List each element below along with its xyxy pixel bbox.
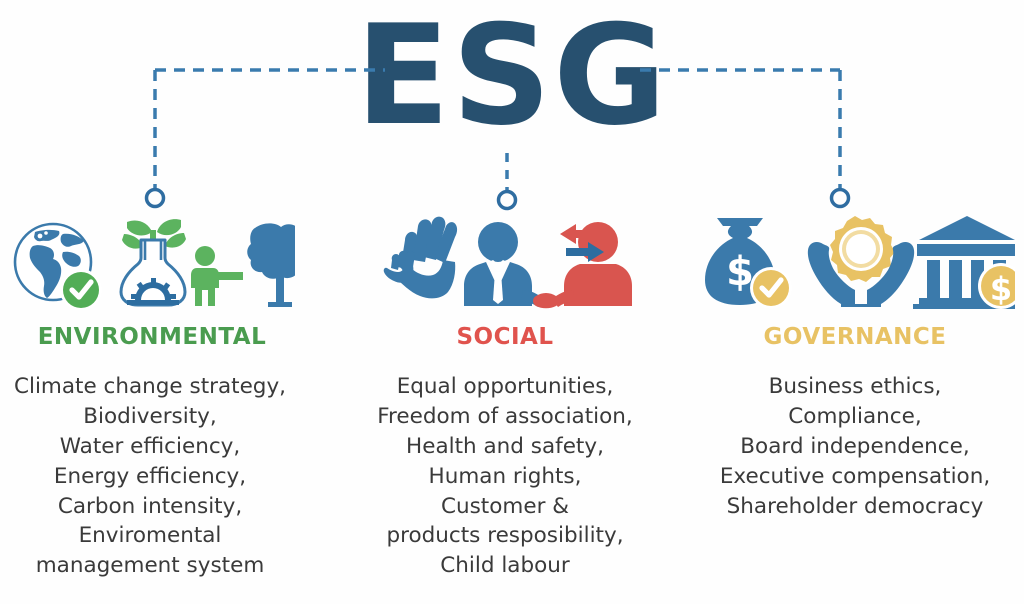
pillar-label-environmental: ENVIRONMENTAL <box>4 324 300 350</box>
handshake-people-icon <box>464 222 632 308</box>
topic-item: Energy efficiency, <box>0 462 300 492</box>
topic-item: Board independence, <box>690 432 1020 462</box>
topic-list-governance: Business ethics, Compliance, Board indep… <box>690 372 1020 521</box>
governance-icon-row: $ <box>690 210 1020 310</box>
pillar-environmental: ENVIRONMENTAL Climate change strategy, B… <box>0 210 300 581</box>
topic-item: Climate change strategy, <box>0 372 300 402</box>
pillar-label-social: SOCIAL <box>355 324 655 350</box>
topic-item: Business ethics, <box>690 372 1020 402</box>
bank-dollar-icon: $ <box>913 216 1015 309</box>
esg-infographic: ESG <box>0 0 1024 604</box>
pillar-label-governance: GOVERNANCE <box>690 324 1020 350</box>
topic-item: Executive compensation, <box>690 462 1020 492</box>
topic-item: Biodiversity, <box>0 402 300 432</box>
person-blue <box>464 222 544 307</box>
social-icons <box>360 210 650 310</box>
person-icon <box>191 246 243 306</box>
topic-item: Compliance, <box>690 402 1020 432</box>
topic-item: Carbon intensity, <box>0 492 300 522</box>
svg-text:$: $ <box>726 249 754 295</box>
tree-icon <box>247 223 295 307</box>
environmental-icon-row <box>0 210 300 310</box>
connector-center <box>499 153 516 209</box>
hands-gear-icon <box>808 216 914 307</box>
pillar-social: SOCIAL Equal opportunities, Freedom of a… <box>355 210 655 581</box>
topic-item: Health and safety, <box>355 432 655 462</box>
topic-list-social: Equal opportunities, Freedom of associat… <box>355 372 655 581</box>
money-bag-check-icon: $ <box>705 218 792 309</box>
topic-item: Human rights, <box>355 462 655 492</box>
governance-icons: $ <box>695 210 1015 310</box>
topic-item: Child labour <box>355 551 655 581</box>
flask-plant-gear-icon <box>121 219 186 305</box>
pillar-governance: $ <box>690 210 1020 521</box>
topic-item: management system <box>0 551 300 581</box>
topic-item: Freedom of association, <box>355 402 655 432</box>
topic-item: Equal opportunities, <box>355 372 655 402</box>
globe-check-icon <box>15 224 102 310</box>
page-title: ESG <box>0 4 1024 149</box>
helping-hands-icon <box>384 217 457 299</box>
topic-item: Enviromental <box>0 521 300 551</box>
topic-list-environmental: Climate change strategy, Biodiversity, W… <box>0 372 300 581</box>
environmental-icons <box>5 210 295 310</box>
topic-item: Customer & <box>355 492 655 522</box>
svg-text:$: $ <box>990 270 1012 308</box>
topic-item: Shareholder democracy <box>690 492 1020 522</box>
social-icon-row <box>355 210 655 310</box>
topic-item: products resposibility, <box>355 521 655 551</box>
topic-item: Water efficiency, <box>0 432 300 462</box>
